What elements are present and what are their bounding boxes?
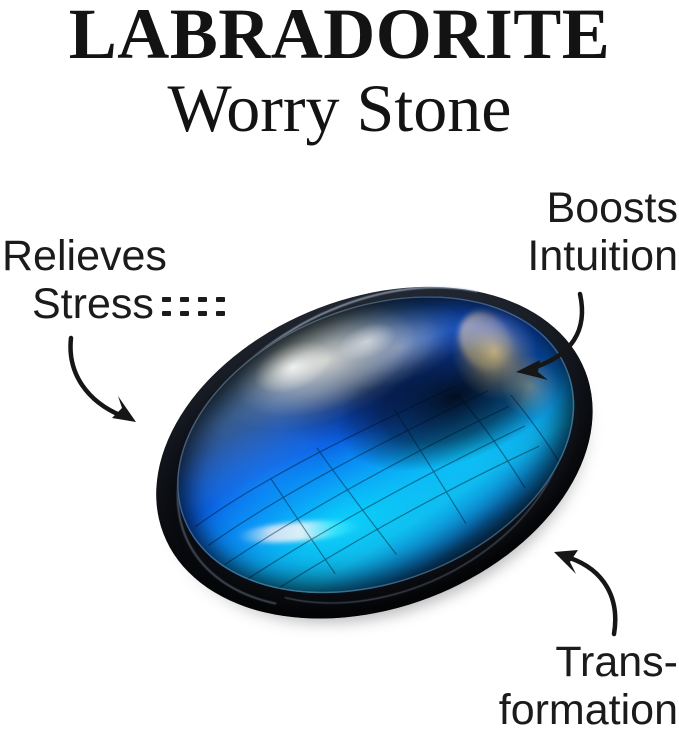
callout-transformation-line2: formation [499,686,678,734]
callout-boosts-intuition-line1: Boosts [527,184,678,232]
curved-arrow-down-right-icon [58,326,168,436]
callout-relieves-stress-line1: Relieves [2,232,234,280]
callout-relieves-stress-line2: Stress [2,280,234,331]
page-subtitle: Worry Stone [0,74,679,142]
curved-arrow-down-left-icon [496,288,600,384]
product-image-canvas: LABRADORITE Worry Stone [0,0,679,739]
callout-transformation: Trans- formation [499,638,678,734]
callout-relieves-stress-line2-text: Stress [32,280,154,328]
page-title: LABRADORITE [0,0,679,70]
callout-relieves-stress: Relieves Stress [2,232,234,331]
callout-boosts-intuition-line2: Intuition [527,232,678,280]
callout-transformation-line1: Trans- [499,638,678,686]
dot-grid-decoration-icon [162,280,234,328]
curved-arrow-up-left-icon [548,534,652,638]
callout-boosts-intuition: Boosts Intuition [527,184,678,280]
